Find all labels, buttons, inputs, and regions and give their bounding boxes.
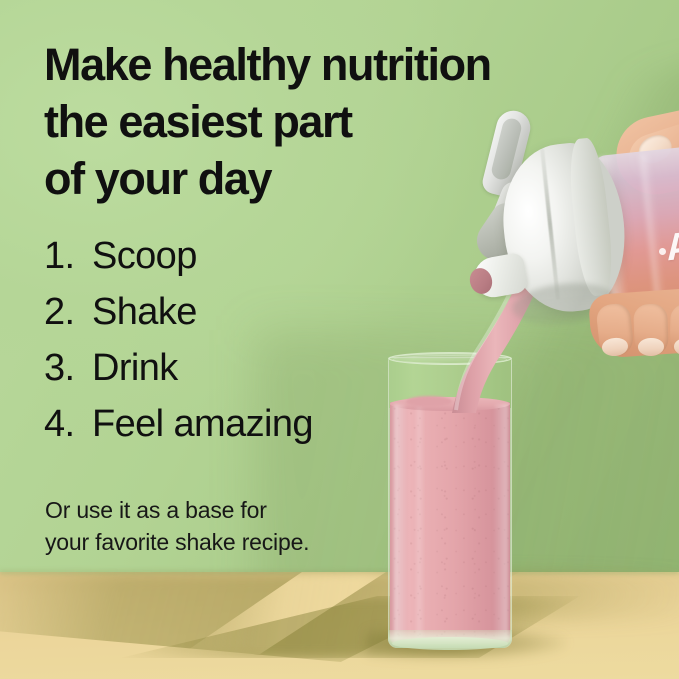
step-number-4: 4. [44, 396, 92, 452]
step-label-4: Feel amazing [92, 396, 313, 452]
step-item-2: 2. Shake [44, 284, 313, 340]
glass-base-ellipse [392, 637, 508, 650]
step-number-1: 1. [44, 228, 92, 284]
product-lifestyle-image: A Make healthy nutrition the easiest par… [0, 0, 679, 679]
step-item-3: 3. Drink [44, 340, 313, 396]
step-label-3: Drink [92, 340, 178, 396]
table-cast-shadow-right [500, 574, 679, 620]
step-number-3: 3. [44, 340, 92, 396]
step-number-2: 2. [44, 284, 92, 340]
glass-highlight-left [394, 404, 406, 642]
step-label-2: Shake [92, 284, 197, 340]
step-label-1: Scoop [92, 228, 197, 284]
glass-highlight-right [494, 404, 508, 642]
bottle-logo-dot [659, 248, 666, 255]
step-item-4: 4. Feel amazing [44, 396, 313, 452]
glass-highlight-middle [417, 408, 424, 640]
headline: Make healthy nutrition the easiest part … [44, 36, 584, 207]
smoothie-texture [390, 402, 510, 644]
subtext: Or use it as a base for your favorite sh… [45, 494, 309, 558]
smoothie-fill [390, 402, 510, 644]
steps-list: 1. Scoop 2. Shake 3. Drink 4. Feel amazi… [44, 228, 313, 452]
step-item-1: 1. Scoop [44, 228, 313, 284]
